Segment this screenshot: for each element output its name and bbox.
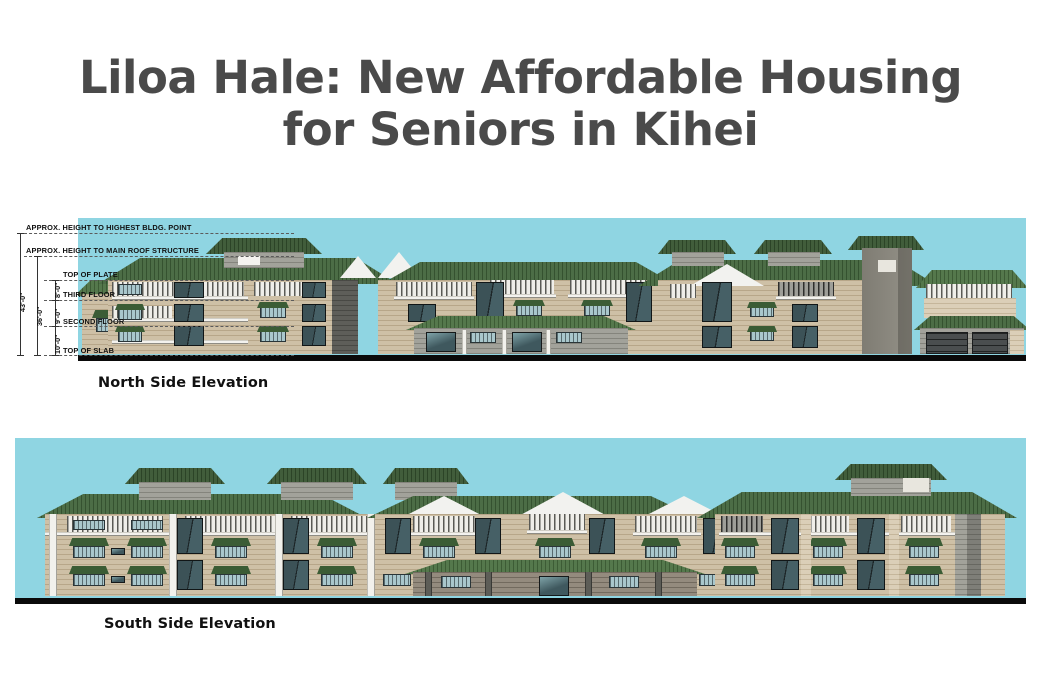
dimension-line-roof-structure (37, 256, 38, 355)
elevator-tower-window (878, 260, 896, 272)
awning-south-left-c1 (69, 566, 109, 574)
window-south-left-f1 (321, 546, 353, 558)
window-south-right-d2 (813, 574, 843, 586)
window-south-left-small-1 (111, 548, 125, 555)
window-left-a3 (174, 326, 204, 346)
lanai-post-south-4 (655, 572, 662, 596)
lanai-post-south-1 (425, 572, 432, 596)
dimension-tick-plate (52, 280, 59, 281)
window-south-right-e2 (909, 574, 939, 586)
penthouse-window-left (238, 256, 260, 265)
window-south-left-small-2 (111, 576, 125, 583)
awning-center-b2 (581, 300, 613, 306)
window-south-left-d3 (215, 546, 247, 558)
penthouse-wall-right-1 (672, 252, 724, 266)
window-south-left-d2 (177, 560, 203, 590)
awning-south-left-e (211, 566, 251, 574)
window-south-center-d1 (383, 574, 411, 586)
awning-right-b2 (747, 326, 777, 332)
window-south-center-b1 (589, 518, 615, 554)
window-right-c2 (792, 326, 818, 348)
railing-band-south-center-a (413, 516, 475, 532)
dimension-tick-overall-top (17, 233, 24, 234)
wall-south-right-pier-1 (801, 514, 811, 596)
window-south-right-b1 (857, 518, 885, 554)
north-elevation-caption: North Side Elevation (98, 375, 268, 391)
awning-south-left-c2 (127, 566, 167, 574)
window-south-right-c2 (725, 574, 755, 586)
north-elevation-drawing (78, 218, 1026, 361)
awning-left-b2 (115, 304, 145, 310)
grade-line-south (15, 598, 1026, 604)
awning-south-right-6 (905, 566, 943, 574)
page-title: Liloa Hale: New Affordable Housing for S… (0, 52, 1041, 156)
window-south-left-e3 (215, 574, 247, 586)
awning-right-b1 (747, 302, 777, 308)
wall-garage-upper (924, 298, 1016, 318)
dimension-tick-second (52, 326, 59, 327)
awning-south-left-b2 (127, 538, 167, 546)
awning-south-center-1 (419, 538, 459, 546)
awning-south-left-g (317, 566, 357, 574)
window-south-right-a2 (771, 560, 799, 590)
lanai-window-center-1 (470, 332, 496, 343)
railing-band-center-l3a (396, 282, 472, 296)
dimension-line-overall (20, 233, 21, 355)
awning-south-right-5 (905, 538, 943, 546)
railing-band-south-right-a (721, 516, 763, 532)
awning-south-right-4 (809, 566, 847, 574)
awning-center-b1 (513, 300, 545, 306)
dimension-tick-third (52, 300, 59, 301)
lanai-door-center-1 (426, 332, 456, 352)
window-south-right-e1 (909, 546, 939, 558)
awning-south-left-d (211, 538, 251, 546)
window-left-d3 (302, 326, 326, 346)
window-center-c1 (626, 282, 652, 322)
window-south-center-a2 (475, 518, 501, 554)
dimension-second-floor-height: 10'-0" (53, 334, 62, 354)
balcony-slab-south-center-a (411, 532, 479, 536)
window-right-c1 (792, 304, 818, 322)
penthouse-wall-south-1 (139, 482, 211, 500)
grade-line-north (78, 355, 1026, 361)
awning-south-right-3 (809, 538, 847, 546)
south-elevation-drawing (15, 438, 1026, 604)
south-elevation-figure: South Side Elevation (0, 432, 1041, 632)
window-south-left-b2 (131, 546, 163, 558)
lanai-window-south-2 (609, 576, 639, 588)
window-south-left-g1 (321, 574, 353, 586)
wall-garage-end-pier (1010, 330, 1024, 354)
awning-south-right-2 (721, 566, 759, 574)
penthouse-wall-south-2 (281, 482, 353, 500)
window-south-left-e2 (283, 560, 309, 590)
penthouse-wall-left (224, 252, 304, 268)
window-south-center-c1 (423, 546, 455, 558)
window-south-center-a1 (385, 518, 411, 554)
window-south-right-c1 (725, 546, 755, 558)
dimension-roof-structure-height: 36'-0" (35, 306, 44, 326)
lanai-door-south (539, 576, 569, 596)
window-left-a2 (174, 304, 204, 322)
dimension-tick-slab (52, 355, 59, 356)
window-south-right-b2 (857, 560, 885, 590)
column-south-left-4 (367, 514, 375, 596)
railing-band-south-center-b (529, 514, 585, 530)
window-south-left-a1 (73, 520, 105, 530)
garage-door-1 (926, 332, 968, 354)
window-south-left-c2 (131, 574, 163, 586)
window-south-left-a2 (131, 520, 163, 530)
dimension-third-floor-height: 9'-0" (53, 308, 62, 324)
south-elevation-caption: South Side Elevation (104, 616, 276, 632)
shadow-south-right-end (967, 514, 981, 596)
window-right-a1 (702, 282, 732, 322)
railing-band-south-center-c (635, 516, 697, 532)
awning-south-left-b1 (69, 538, 109, 546)
awning-left-b3 (115, 326, 145, 332)
slide-canvas: Liloa Hale: New Affordable Housing for S… (0, 0, 1041, 694)
window-south-right-a1 (771, 518, 799, 554)
penthouse-window-south-4 (903, 478, 929, 492)
lanai-post-1 (462, 330, 467, 354)
balcony-slab-right-l3 (776, 296, 836, 300)
dimension-tick-roof-bottom (34, 355, 41, 356)
lanai-window-south-1 (441, 576, 471, 588)
railing-band-south-right-b (805, 516, 849, 532)
balcony-slab-south-right (719, 532, 965, 536)
balcony-slab-south-center-c (633, 532, 701, 536)
window-south-center-c2 (539, 546, 571, 558)
lanai-post-south-2 (485, 572, 492, 596)
window-south-right-d1 (813, 546, 843, 558)
column-south-left-3 (275, 514, 283, 596)
column-south-left-2 (169, 514, 177, 596)
page-title-line-1: Liloa Hale: New Affordable Housing (0, 52, 1041, 104)
awning-south-right-1 (721, 538, 759, 546)
wall-south-right-pier-2 (889, 514, 899, 596)
awning-south-center-3 (641, 538, 681, 546)
lanai-post-south-3 (585, 572, 592, 596)
awning-left-c1 (257, 302, 289, 308)
awning-south-left-f (317, 538, 357, 546)
railing-band-right-l3b (778, 282, 834, 296)
lanai-post-3 (546, 330, 551, 354)
north-elevation-figure: 43'-0" 36'-0" 8'-0" 9'-0" 10'-0" APPROX.… (0, 210, 1041, 385)
window-left-d2 (302, 304, 326, 322)
railing-band-south-right-c (901, 516, 951, 532)
dimension-tick-roof-top (34, 256, 41, 257)
window-south-left-c1 (73, 574, 105, 586)
awning-left-c2 (257, 326, 289, 332)
window-right-a2 (702, 326, 732, 348)
window-south-left-b1 (73, 546, 105, 558)
window-south-left-d1 (177, 518, 203, 554)
garage-door-2 (972, 332, 1008, 354)
dimension-floor-to-plate: 8'-0" (53, 282, 62, 298)
page-title-line-2: for Seniors in Kihei (0, 104, 1041, 156)
railing-band-right-l3a (670, 284, 696, 298)
awning-south-center-2 (535, 538, 575, 546)
window-south-left-e1 (283, 518, 309, 554)
balcony-slab-center-l3a (394, 296, 474, 300)
shadow-stair-left (332, 280, 358, 354)
lanai-post-2 (502, 330, 507, 354)
lanai-window-center-2 (556, 332, 582, 343)
lanai-door-center-2 (512, 332, 542, 352)
railing-band-garage-upper (926, 284, 1012, 298)
balcony-slab-south-center-b (527, 530, 587, 534)
shadow-elevator-tower (898, 248, 912, 354)
window-left-d1 (302, 282, 326, 298)
window-left-b1 (118, 284, 142, 295)
dimension-line-floor-stack (55, 280, 56, 355)
balcony-slab-south-l3a (45, 532, 175, 536)
dimension-overall-height: 43'-0" (18, 292, 27, 312)
dimension-tick-overall-bottom (17, 355, 24, 356)
window-south-center-c3 (645, 546, 677, 558)
penthouse-wall-right-2 (768, 252, 820, 266)
window-left-a1 (174, 282, 204, 298)
column-south-left-1 (49, 514, 57, 596)
